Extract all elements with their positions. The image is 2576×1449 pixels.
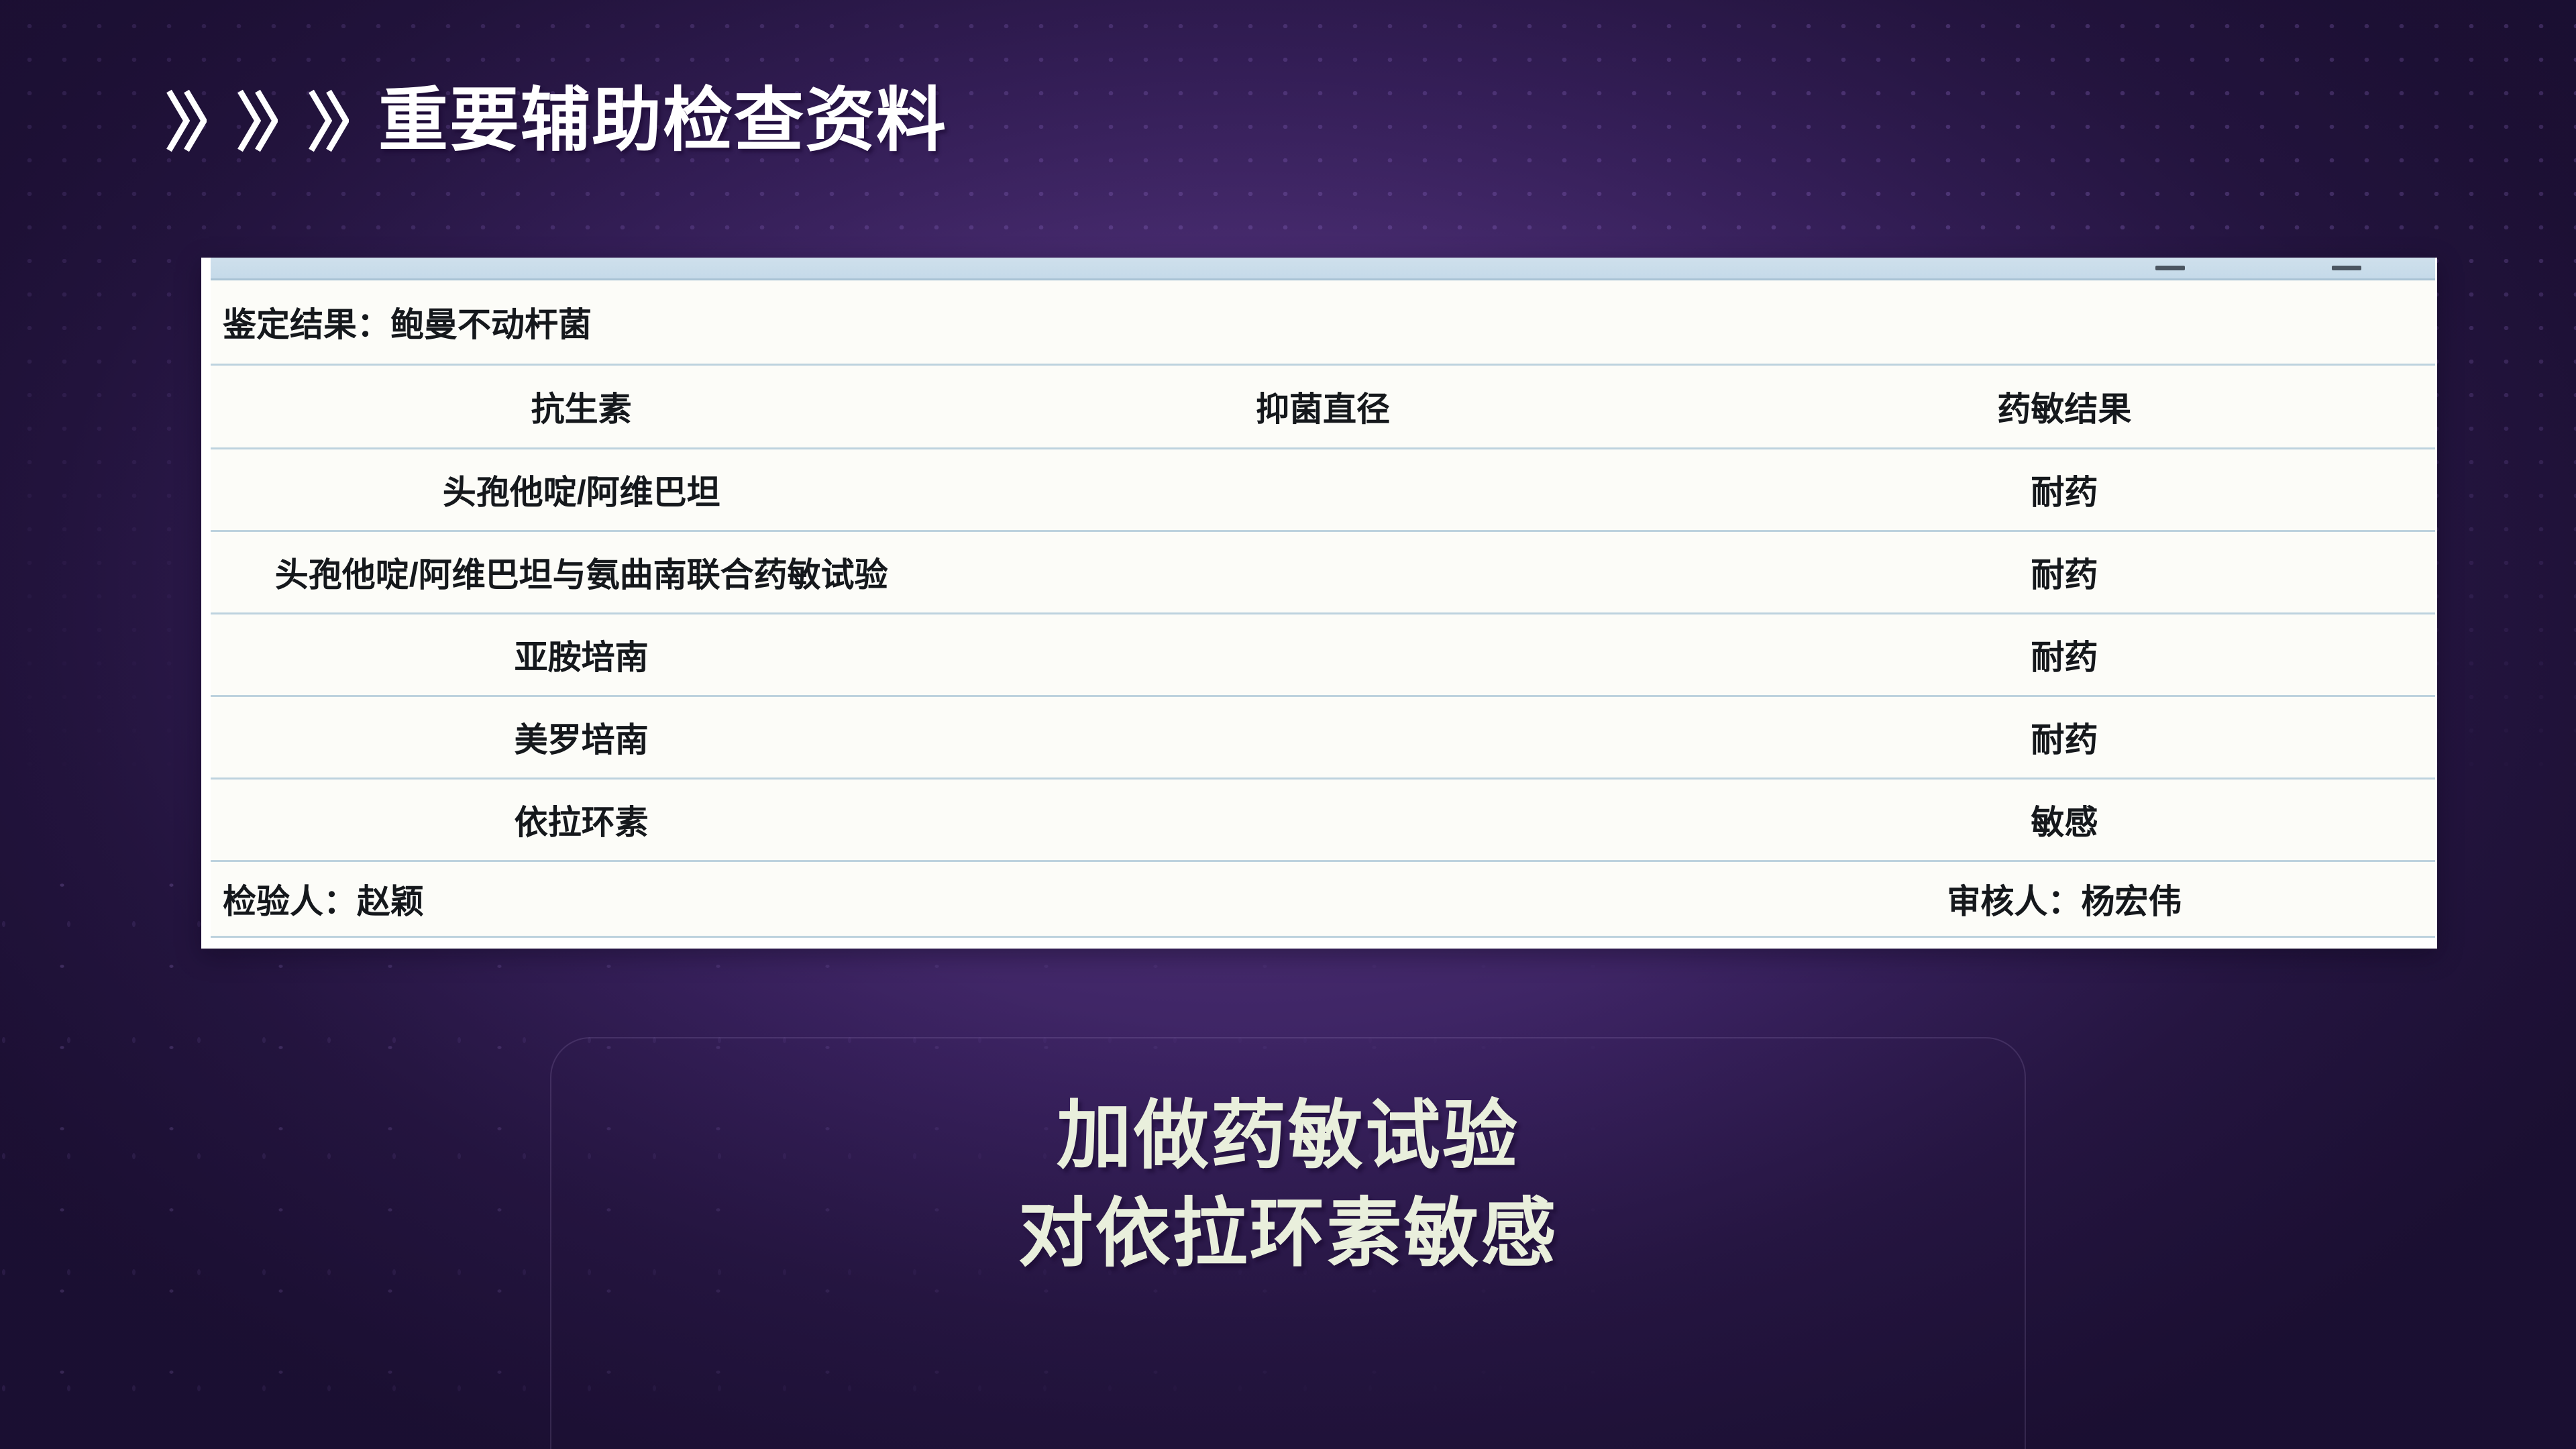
column-header-diameter: 抑菌直径 bbox=[952, 364, 1693, 448]
restore-icon[interactable] bbox=[2332, 266, 2361, 270]
chevron-right-icon bbox=[237, 89, 278, 153]
table-row: 头孢他啶/阿维巴坦与氨曲南联合药敏试验 耐药 bbox=[211, 531, 2435, 613]
cell-diameter bbox=[952, 779, 1693, 861]
cell-result: 耐药 bbox=[1694, 531, 2435, 613]
cell-result: 敏感 bbox=[1694, 779, 2435, 861]
cell-antibiotic: 头孢他啶/阿维巴坦与氨曲南联合药敏试验 bbox=[211, 531, 952, 613]
cell-diameter bbox=[952, 448, 1693, 531]
report-window-titlebar bbox=[211, 258, 2435, 280]
identification-result: 鉴定结果：鲍曼不动杆菌 bbox=[211, 280, 2435, 364]
cell-antibiotic: 亚胺培南 bbox=[211, 614, 952, 696]
identification-row: 鉴定结果：鲍曼不动杆菌 bbox=[211, 280, 2435, 364]
table-row: 头孢他啶/阿维巴坦 耐药 bbox=[211, 448, 2435, 531]
page-title: 重要辅助检查资料 bbox=[378, 86, 947, 156]
table-row: 美罗培南 耐药 bbox=[211, 696, 2435, 779]
cell-result: 耐药 bbox=[1694, 448, 2435, 531]
cell-diameter bbox=[952, 614, 1693, 696]
tester-label: 检验人：赵颖 bbox=[211, 861, 952, 937]
column-header-antibiotic: 抗生素 bbox=[211, 364, 952, 448]
cell-result: 耐药 bbox=[1694, 614, 2435, 696]
callout-line-2: 对依拉环素敏感 bbox=[0, 1185, 2576, 1283]
chevron-right-icon bbox=[309, 89, 349, 153]
cell-result: 耐药 bbox=[1694, 696, 2435, 779]
chevron-right-icon bbox=[166, 89, 207, 153]
column-header-result: 药敏结果 bbox=[1694, 364, 2435, 448]
lab-report-inner: 鉴定结果：鲍曼不动杆菌 抗生素 抑菌直径 药敏结果 头孢他啶/阿维巴坦 耐药 头… bbox=[211, 258, 2435, 938]
reviewer-label: 审核人：杨宏伟 bbox=[1706, 875, 2423, 923]
minimize-icon[interactable] bbox=[2155, 266, 2185, 270]
table-row: 依拉环素 敏感 bbox=[211, 779, 2435, 861]
reviewer-cell: 审核人：杨宏伟 bbox=[1694, 861, 2435, 937]
table-header-row: 抗生素 抑菌直径 药敏结果 bbox=[211, 364, 2435, 448]
cell-antibiotic: 依拉环素 bbox=[211, 779, 952, 861]
cell-antibiotic: 头孢他啶/阿维巴坦 bbox=[211, 448, 952, 531]
cell-diameter bbox=[952, 531, 1693, 613]
chevron-group bbox=[166, 89, 349, 153]
table-row: 亚胺培南 耐药 bbox=[211, 614, 2435, 696]
callout-text: 加做药敏试验 对依拉环素敏感 bbox=[0, 1087, 2576, 1282]
slide-title-row: 重要辅助检查资料 bbox=[166, 86, 947, 156]
cell-antibiotic: 美罗培南 bbox=[211, 696, 952, 779]
slide-canvas: 重要辅助检查资料 鉴定结果：鲍曼不动杆菌 抗生素 抑菌直径 药敏结果 bbox=[0, 0, 2576, 1449]
callout-line-1: 加做药敏试验 bbox=[0, 1087, 2576, 1185]
cell-diameter bbox=[952, 696, 1693, 779]
footer-spacer bbox=[952, 861, 1693, 937]
report-footer-row: 检验人：赵颖 审核人：杨宏伟 bbox=[211, 861, 2435, 937]
susceptibility-table: 鉴定结果：鲍曼不动杆菌 抗生素 抑菌直径 药敏结果 头孢他啶/阿维巴坦 耐药 头… bbox=[211, 280, 2435, 938]
lab-report-card: 鉴定结果：鲍曼不动杆菌 抗生素 抑菌直径 药敏结果 头孢他啶/阿维巴坦 耐药 头… bbox=[201, 258, 2437, 949]
